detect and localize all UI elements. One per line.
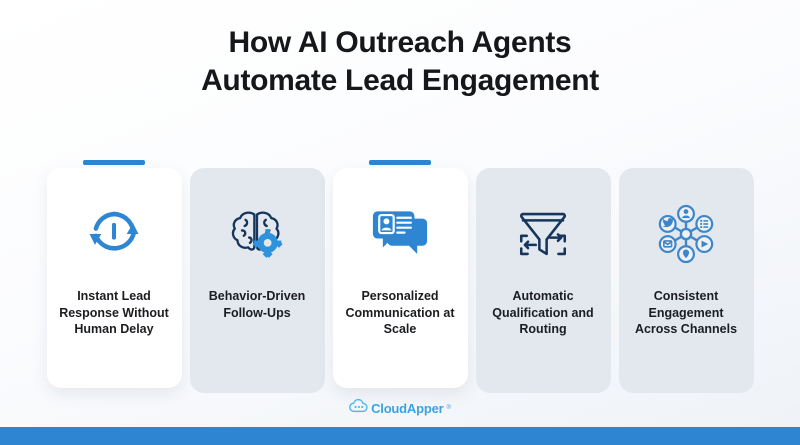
chat-bubbles-profile-icon — [370, 198, 430, 270]
brain-gear-icon — [226, 198, 288, 270]
feature-card-label: Automatic Qualification and Routing — [476, 288, 611, 338]
card-accent-bar — [83, 160, 145, 165]
feature-card-label: Behavior-Driven Follow-Ups — [190, 288, 325, 321]
feature-card-body[interactable]: Automatic Qualification and Routing — [476, 168, 611, 393]
feature-card-label: Consistent Engagement Across Channels — [619, 288, 754, 338]
feature-card-label: Personalized Communication at Scale — [333, 288, 468, 338]
cloud-icon — [349, 398, 368, 418]
feature-card-4[interactable]: Automatic Qualification and Routing — [476, 160, 611, 393]
bottom-accent-bar — [0, 427, 800, 445]
feature-card-body[interactable]: Personalized Communication at Scale — [333, 168, 468, 388]
page-title: How AI Outreach Agents Automate Lead Eng… — [0, 0, 800, 100]
feature-card-label: Instant Lead Response Without Human Dela… — [47, 288, 182, 338]
channel-hub-icon — [653, 198, 719, 270]
title-line-2: Automate Lead Engagement — [0, 62, 800, 100]
title-line-1: How AI Outreach Agents — [0, 24, 800, 62]
feature-card-body[interactable]: Consistent Engagement Across Channels — [619, 168, 754, 393]
footer-brand-logo: CloudApper ® — [0, 398, 800, 418]
feature-card-row: Instant Lead Response Without Human Dela… — [0, 160, 800, 393]
funnel-routing-icon — [512, 198, 574, 270]
feature-card-body[interactable]: Behavior-Driven Follow-Ups — [190, 168, 325, 393]
feature-card-3[interactable]: Personalized Communication at Scale — [333, 160, 468, 388]
trademark-symbol: ® — [446, 405, 450, 411]
feature-card-2[interactable]: Behavior-Driven Follow-Ups — [190, 160, 325, 393]
feature-card-body[interactable]: Instant Lead Response Without Human Dela… — [47, 168, 182, 388]
brand-name: CloudApper — [371, 401, 443, 416]
refresh-clock-icon — [85, 198, 143, 270]
feature-card-1[interactable]: Instant Lead Response Without Human Dela… — [47, 160, 182, 388]
feature-card-5[interactable]: Consistent Engagement Across Channels — [619, 160, 754, 393]
card-accent-bar — [369, 160, 431, 165]
